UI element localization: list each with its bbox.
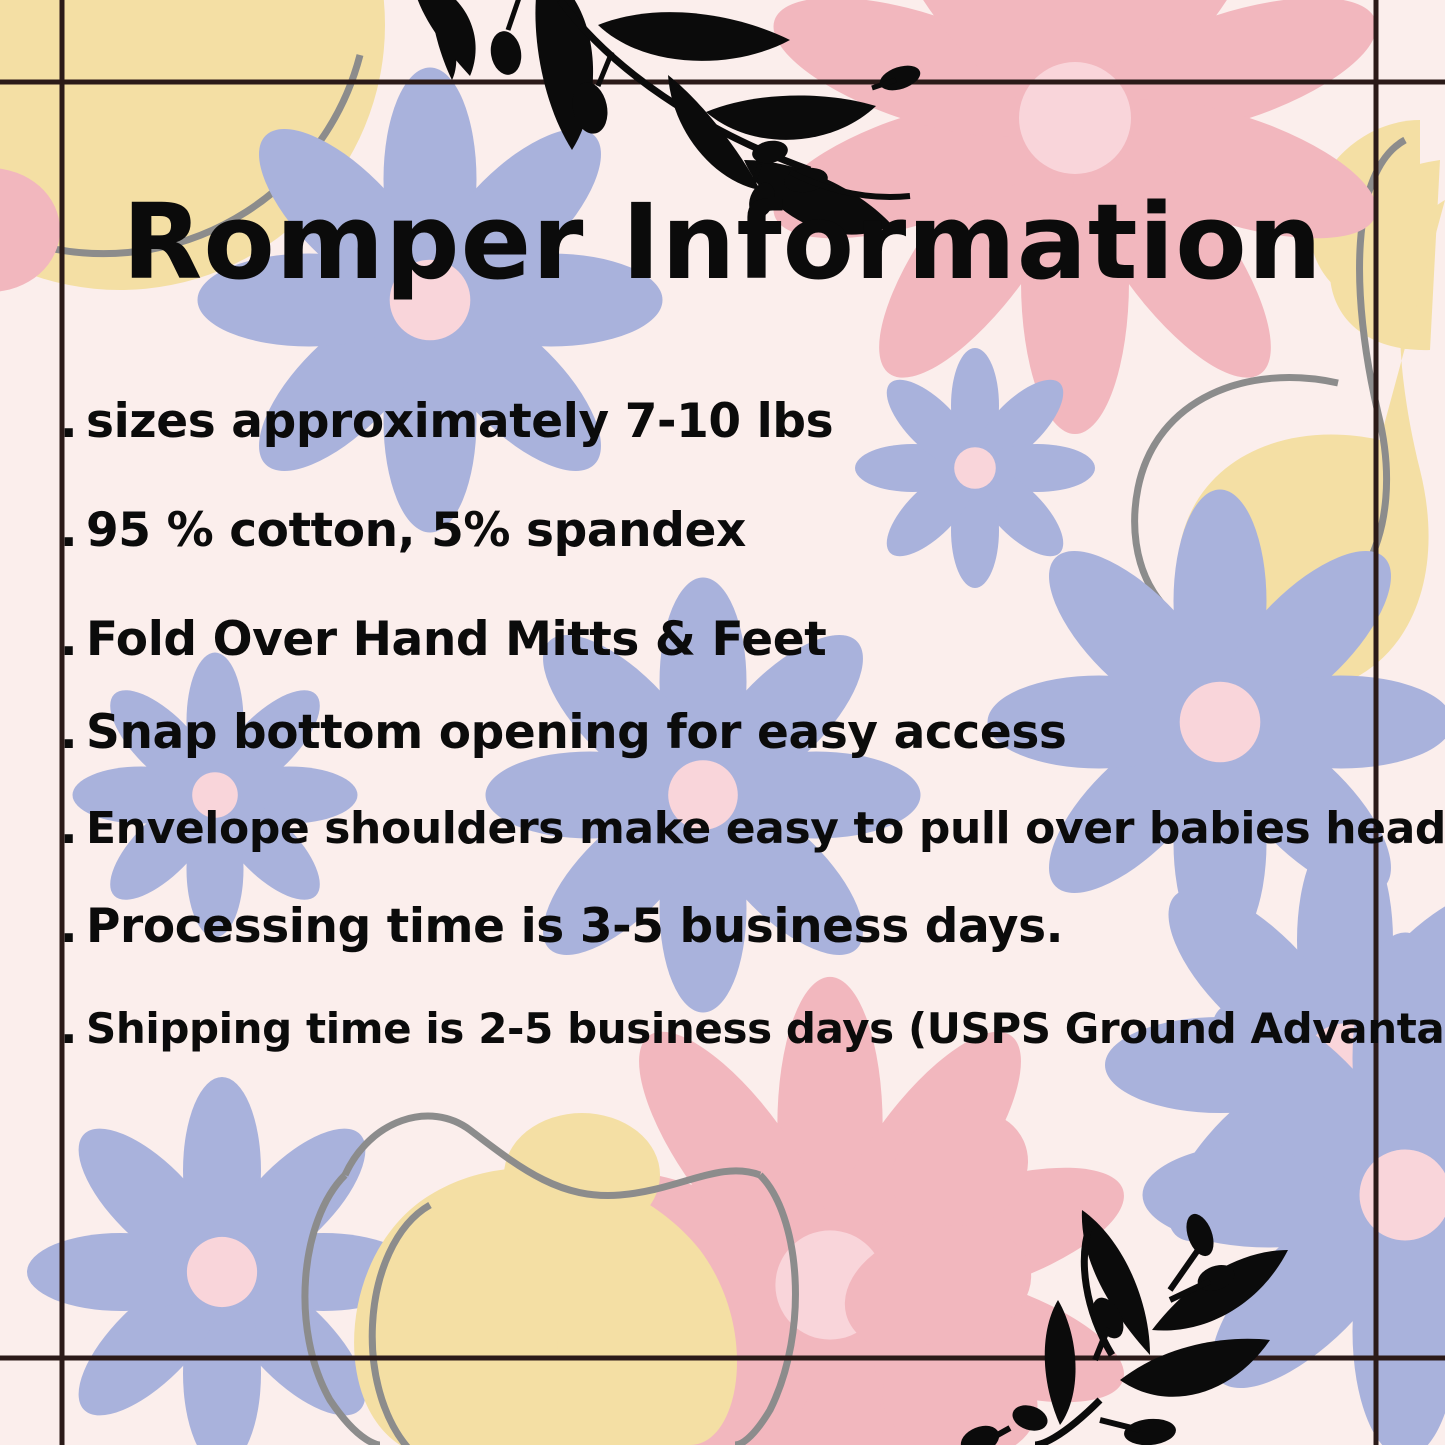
bullet-marker: .	[60, 1004, 86, 1050]
list-item-label: Snap bottom opening for easy access	[86, 709, 1066, 756]
bullet-marker: .	[60, 709, 86, 755]
list-item: . Envelope shoulders make easy to pull o…	[60, 804, 1420, 851]
list-item-label: Processing time is 3-5 business days.	[86, 903, 1063, 950]
list-item-label: Fold Over Hand Mitts & Feet	[86, 616, 826, 663]
bullet-marker: .	[60, 398, 86, 444]
list-item-label: sizes approximately 7-10 lbs	[86, 398, 833, 445]
page-title: Romper Information	[0, 186, 1445, 298]
list-item-label: 95 % cotton, 5% spandex	[86, 507, 746, 554]
list-item-label: Envelope shoulders make easy to pull ove…	[86, 807, 1445, 851]
poster-content: Romper Information . sizes approximately…	[0, 0, 1445, 1445]
list-item: . Fold Over Hand Mitts & Feet	[60, 616, 1420, 663]
bullet-marker: .	[60, 903, 86, 949]
list-item: . 95 % cotton, 5% spandex	[60, 507, 1420, 554]
list-item: . Snap bottom opening for easy access	[60, 709, 1420, 756]
bullet-marker: .	[60, 616, 86, 662]
list-item: . Shipping time is 2-5 business days (US…	[60, 1004, 1420, 1050]
list-item: . Processing time is 3-5 business days.	[60, 903, 1420, 950]
romper-info-bullet-list: . sizes approximately 7-10 lbs . 95 % co…	[60, 398, 1420, 1050]
romper-information-poster: Romper Information . sizes approximately…	[0, 0, 1445, 1445]
list-item-label: Shipping time is 2-5 business days (USPS…	[86, 1008, 1445, 1050]
list-item: . sizes approximately 7-10 lbs	[60, 398, 1420, 445]
bullet-marker: .	[60, 507, 86, 553]
bullet-marker: .	[60, 804, 86, 850]
